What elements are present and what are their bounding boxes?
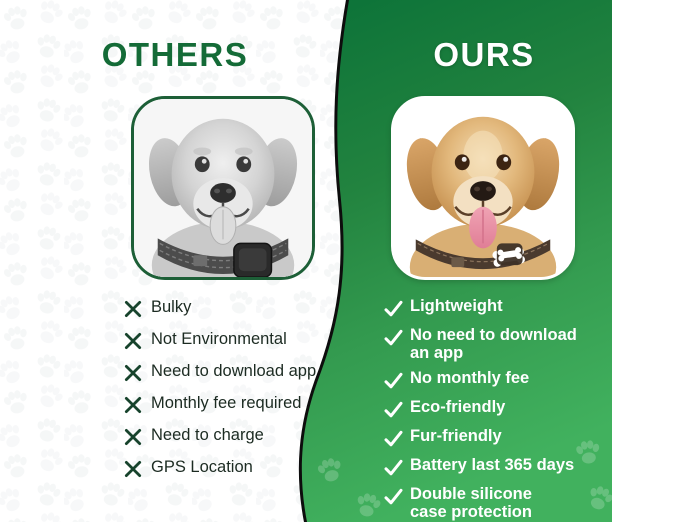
list-item: Need to download app [122, 362, 347, 383]
comparison-infographic: OTHERS OURS [0, 0, 695, 522]
others-feature-list: Bulky Not Environmental Need to download… [122, 298, 347, 490]
x-icon [122, 395, 144, 415]
list-item: No monthly fee [383, 369, 618, 391]
ours-dog-photo [391, 96, 575, 280]
list-item-label: Eco-friendly [410, 398, 505, 416]
check-icon [383, 299, 404, 319]
list-item-label: Bulky [151, 298, 191, 317]
list-item: Not Environmental [122, 330, 347, 351]
check-icon [383, 400, 404, 420]
list-item: Fur-friendly [383, 427, 618, 449]
list-item-label: Fur-friendly [410, 427, 502, 445]
list-item: GPS Location [122, 458, 347, 479]
list-item: Battery last 365 days [383, 456, 618, 478]
check-icon [383, 458, 404, 478]
check-icon [383, 328, 404, 348]
check-icon [383, 429, 404, 449]
list-item: Double silicone case protection [383, 485, 618, 521]
list-item: No need to download an app [383, 326, 618, 362]
list-item-label: No monthly fee [410, 369, 529, 387]
x-icon [122, 363, 144, 383]
x-icon [122, 427, 144, 447]
list-item-label: Need to download app [151, 362, 316, 381]
page-title-ours: OURS [360, 36, 608, 74]
list-item-label: Not Environmental [151, 330, 287, 349]
others-dog-photo [131, 96, 315, 280]
list-item-label: Need to charge [151, 426, 264, 445]
list-item-label: Lightweight [410, 297, 503, 315]
list-item: Eco-friendly [383, 398, 618, 420]
check-icon [383, 487, 404, 507]
list-item-label: Monthly fee required [151, 394, 301, 413]
list-item: Monthly fee required [122, 394, 347, 415]
list-item: Lightweight [383, 297, 618, 319]
list-item-label: Battery last 365 days [410, 456, 574, 474]
list-item-label: GPS Location [151, 458, 253, 477]
list-item-label: No need to download an app [410, 326, 577, 362]
x-icon [122, 459, 144, 479]
list-item: Need to charge [122, 426, 347, 447]
list-item: Bulky [122, 298, 347, 319]
page-title-others: OTHERS [0, 36, 350, 74]
check-icon [383, 371, 404, 391]
ours-feature-list: Lightweight No need to download an app N… [383, 297, 618, 522]
list-item-label: Double silicone case protection [410, 485, 532, 521]
x-icon [122, 299, 144, 319]
x-icon [122, 331, 144, 351]
